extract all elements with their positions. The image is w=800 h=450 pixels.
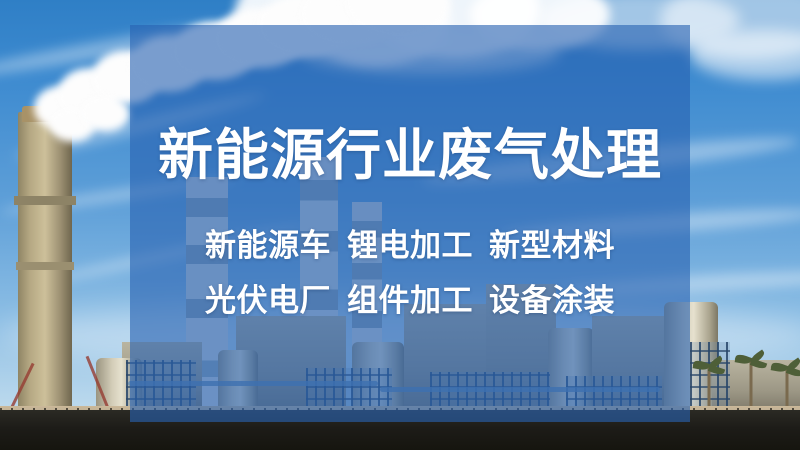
subtitle-phrase: 新能源车 <box>205 228 331 263</box>
palm-tree <box>778 368 796 410</box>
subtitle-phrase: 组件加工 <box>347 283 473 318</box>
promo-banner: 新能源行业废气处理 新能源车锂电加工新型材料 光伏电厂组件加工设备涂装 <box>0 0 800 450</box>
smokestack-ring <box>14 196 76 205</box>
subtitle-phrase: 新型材料 <box>489 228 615 263</box>
subtitle-line-2: 光伏电厂组件加工设备涂装 <box>136 285 684 316</box>
palm-tree <box>742 360 760 410</box>
banner-text-block: 新能源行业废气处理 新能源车锂电加工新型材料 光伏电厂组件加工设备涂装 <box>130 25 690 422</box>
subtitle-line-1: 新能源车锂电加工新型材料 <box>136 230 684 261</box>
page-title: 新能源行业废气处理 <box>136 128 684 183</box>
palm-tree <box>700 366 718 410</box>
subtitle-phrase: 设备涂装 <box>489 283 615 318</box>
subtitle-phrase: 锂电加工 <box>347 228 473 263</box>
subtitle-phrase: 光伏电厂 <box>205 283 331 318</box>
smokestack-ring <box>16 262 74 270</box>
